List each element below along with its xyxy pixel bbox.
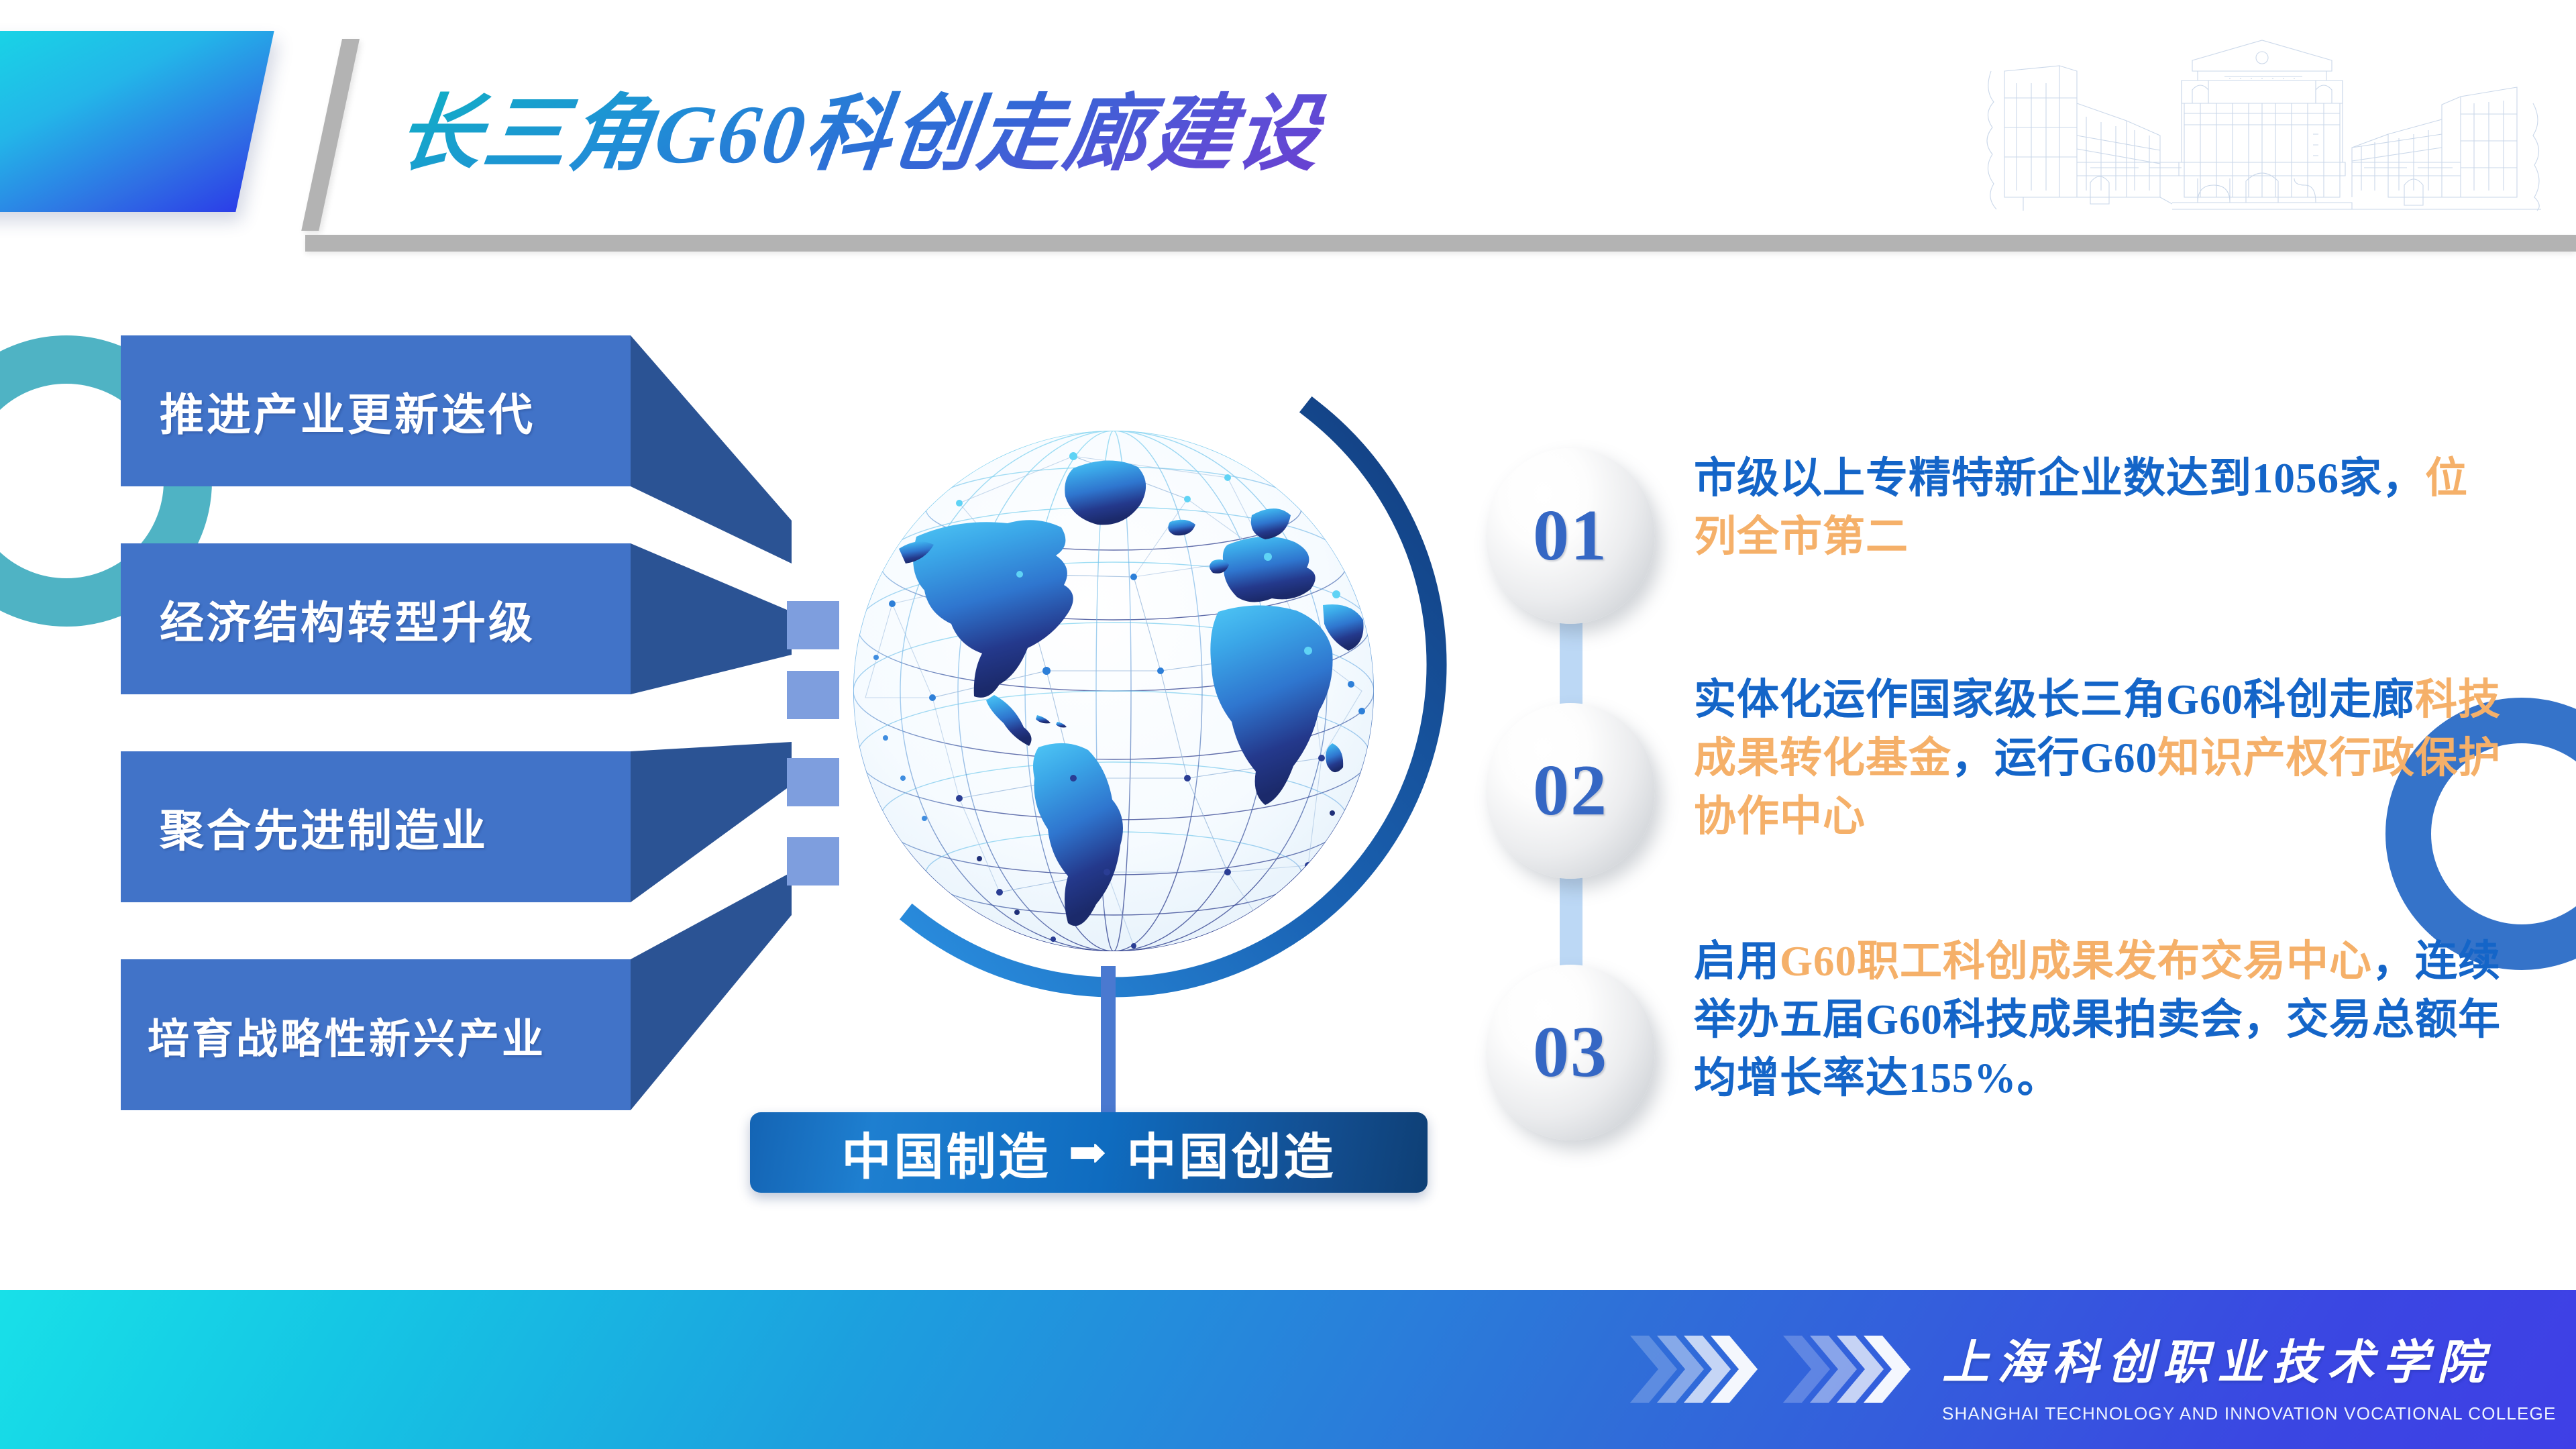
left-box-4[interactable]: 培育战略性新兴产业 xyxy=(121,959,631,1110)
number-badge-03[interactable]: 03 xyxy=(1486,965,1655,1140)
banner-left-label: 中国制造 xyxy=(842,1117,1051,1189)
right-item-01-text: 市级以上专精特新企业数达到1056家，位列全市第二 xyxy=(1694,449,2509,566)
number-badge-02[interactable]: 02 xyxy=(1486,703,1655,879)
left-box-3-label: 聚合先进制造业 xyxy=(121,795,488,859)
number-badge-02-label: 02 xyxy=(1533,749,1608,833)
slide-canvas: 长三角G60科创走廊建设 xyxy=(0,0,2576,1449)
left-box-1-label: 推进产业更新迭代 xyxy=(121,379,535,443)
campus-building-sketch-icon xyxy=(1959,0,2563,235)
right-item-03-text: 启用G60职工科创成果发布交易中心，连续举办五届G60科技成果拍卖会，交易总额年… xyxy=(1694,932,2509,1108)
left-box-3[interactable]: 聚合先进制造业 xyxy=(121,751,631,902)
number-badge-03-label: 03 xyxy=(1533,1011,1608,1094)
footer-college-name-en: SHANGHAI TECHNOLOGY AND INNOVATION VOCAT… xyxy=(1942,1403,2492,1424)
right-item-02-seg-3: ，运行G60 xyxy=(1951,735,2157,782)
right-item-03-seg-2: G60职工科创成果发布交易中心 xyxy=(1780,938,2372,985)
network-globe-icon xyxy=(758,335,1469,1046)
right-items-group: 01 市级以上专精特新企业数达到1056家，位列全市第二 02 实体化运作国家级… xyxy=(1472,362,2559,1228)
left-box-4-label: 培育战略性新兴产业 xyxy=(121,1005,546,1065)
header-bracket-vertical xyxy=(301,39,360,231)
number-badge-01[interactable]: 01 xyxy=(1486,448,1655,624)
center-banner-text: 中国制造 ➡ 中国创造 xyxy=(842,1117,1336,1189)
left-box-2-label: 经济结构转型升级 xyxy=(121,587,535,651)
header-bracket-horizontal xyxy=(305,235,2576,252)
center-banner[interactable]: 中国制造 ➡ 中国创造 xyxy=(750,1112,1428,1193)
right-item-02-seg-1: 实体化运作国家级长三角G60科创走廊 xyxy=(1694,676,2415,723)
footer-bar: 上海科创职业技术学院 SHANGHAI TECHNOLOGY AND INNOV… xyxy=(0,1290,2576,1449)
number-badge-01-label: 01 xyxy=(1533,494,1608,578)
header-accent-shape xyxy=(0,31,274,212)
footer-college-name-cn: 上海科创职业技术学院 xyxy=(1942,1325,2492,1393)
right-item-02-text: 实体化运作国家级长三角G60科创走廊科技成果转化基金，运行G60知识产权行政保护… xyxy=(1694,671,2509,846)
page-title: 长三角G60科创走廊建设 xyxy=(392,66,1331,186)
right-item-01-seg-1: 市级以上专精特新企业数达到1056家， xyxy=(1694,455,2425,502)
double-chevron-icon xyxy=(1630,1330,1912,1408)
right-item-03-seg-1: 启用 xyxy=(1694,938,1780,985)
left-boxes-group: 推进产业更新迭代 经济结构转型升级 聚合先进制造业 培育战略性新兴产业 xyxy=(0,322,885,1154)
footer-logo: 上海科创职业技术学院 SHANGHAI TECHNOLOGY AND INNOV… xyxy=(1942,1325,2492,1424)
left-box-1[interactable]: 推进产业更新迭代 xyxy=(121,335,631,486)
arrow-right-icon: ➡ xyxy=(1069,1130,1110,1175)
globe-stem xyxy=(1101,966,1116,1114)
left-box-2[interactable]: 经济结构转型升级 xyxy=(121,543,631,694)
banner-right-label: 中国创造 xyxy=(1126,1117,1336,1189)
